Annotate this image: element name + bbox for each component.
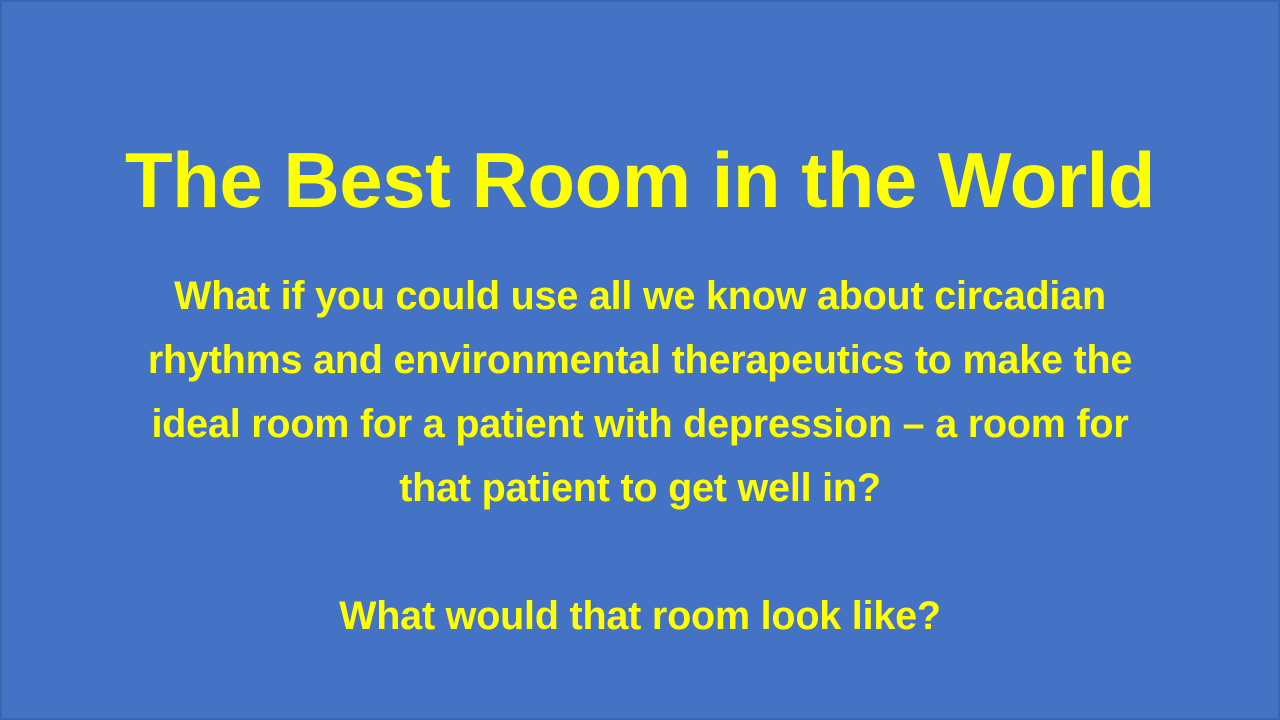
slide-body-text: What if you could use all we know about … xyxy=(42,264,1238,648)
body-line-4: that patient to get well in? xyxy=(42,456,1238,520)
slide-title: The Best Room in the World xyxy=(42,140,1238,222)
presentation-slide: The Best Room in the World What if you c… xyxy=(0,0,1280,720)
body-blank-line xyxy=(42,520,1238,584)
closing-question-line: What would that room look like? xyxy=(42,584,1238,648)
body-line-1: What if you could use all we know about … xyxy=(42,264,1238,328)
body-line-3: ideal room for a patient with depression… xyxy=(42,392,1238,456)
body-line-2: rhythms and environmental therapeutics t… xyxy=(42,328,1238,392)
